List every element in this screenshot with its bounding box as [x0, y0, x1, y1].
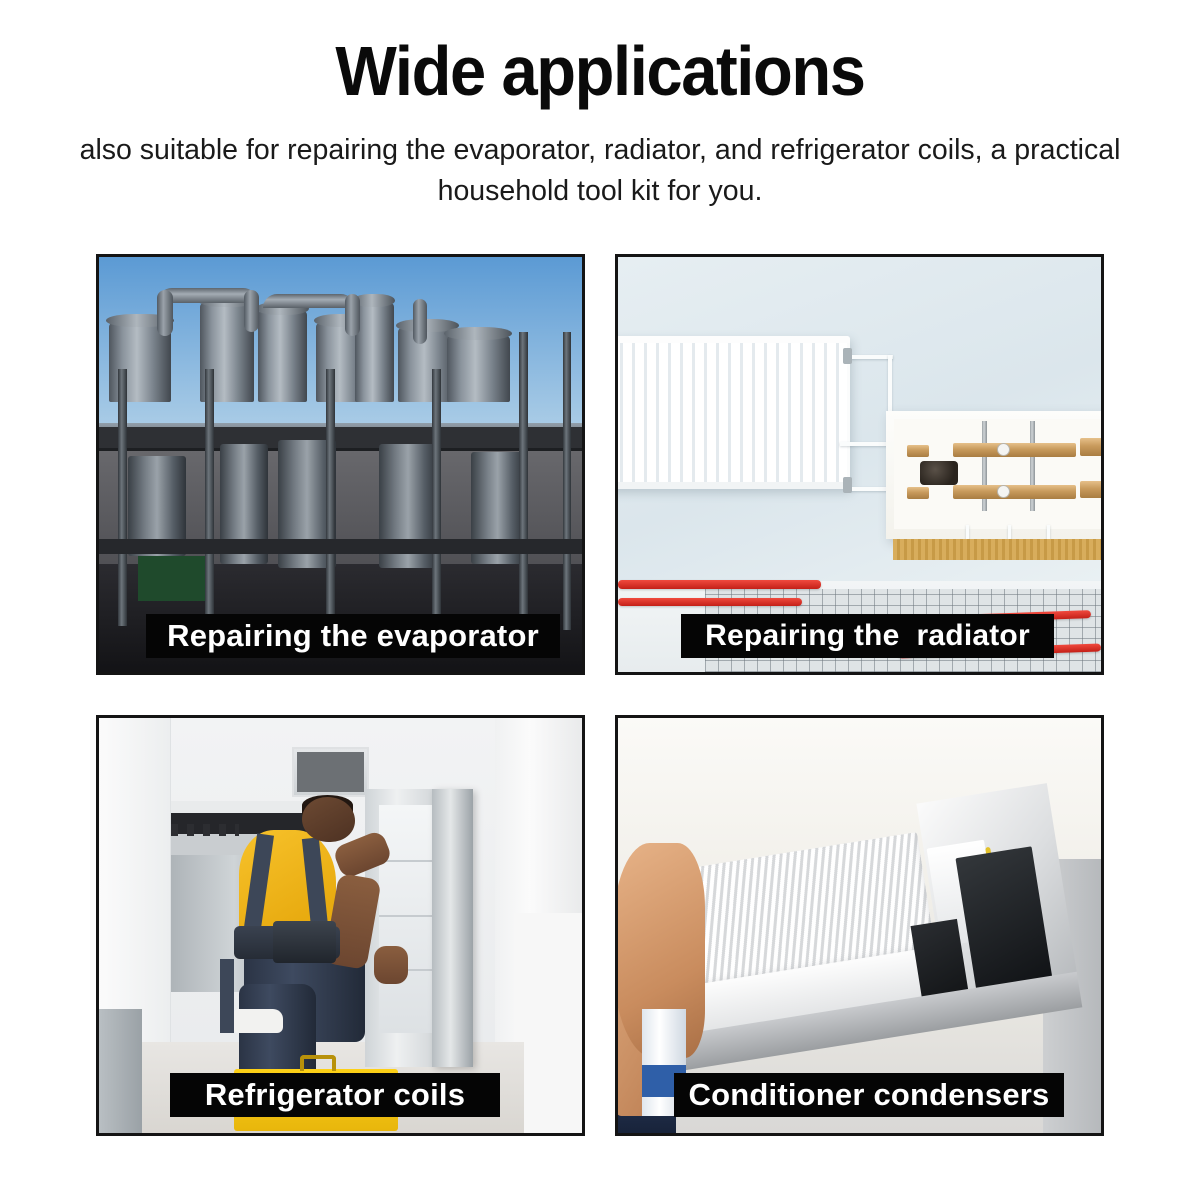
page-subtitle: also suitable for repairing the evaporat…: [55, 106, 1145, 212]
range-hood: [292, 747, 369, 797]
toolbox-handle: [300, 1055, 336, 1071]
panel-evaporator[interactable]: Repairing the evaporator: [96, 254, 585, 675]
heating-manifold-box: [886, 411, 1101, 540]
steel-column-1: [118, 369, 127, 626]
application-photo-grid: Repairing the evaporator: [96, 254, 1104, 1136]
caption-radiator: Repairing the radiator: [681, 614, 1054, 658]
left-foreground-panel: [99, 1009, 142, 1134]
steel-column-5: [519, 332, 528, 631]
caption-refrigerator-coils: Refrigerator coils: [170, 1073, 500, 1117]
downcomer-4: [413, 299, 427, 345]
wide-applications-page: Wide applications also suitable for repa…: [0, 0, 1200, 1200]
downcomer-1: [157, 290, 173, 336]
upper-deck: [99, 427, 582, 448]
brass-fitting-2: [907, 487, 929, 499]
caption-evaporator: Repairing the evaporator: [146, 614, 560, 658]
downcomer-2: [244, 290, 259, 332]
stove-knobs: [171, 824, 239, 836]
radiator-valve-bottom: [843, 477, 852, 493]
brass-manifold-bar-top: [953, 443, 1076, 457]
manifold-inner-face: [894, 419, 1101, 530]
refrigerator-interior: [379, 805, 437, 1033]
underfloor-pipe-1: [618, 580, 821, 589]
page-title: Wide applications: [42, 0, 1158, 106]
underfloor-pipe-2: [618, 598, 802, 606]
panel-refrigerator-coils[interactable]: Refrigerator coils: [96, 715, 585, 1136]
worker-head: [302, 797, 355, 843]
photo-ac-cleaning: [618, 718, 1101, 1133]
photo-evaporator-plant: [99, 257, 582, 672]
overhead-pipe-2: [263, 294, 355, 307]
worker-tool-pouch: [273, 921, 336, 963]
fridge-shelf-1: [379, 860, 437, 862]
worker-hand: [374, 946, 408, 983]
panel-conditioner-condensers[interactable]: Conditioner condensers: [615, 715, 1104, 1136]
worker-strap-hanging: [220, 959, 234, 1034]
downcomer-3: [345, 294, 359, 336]
pressure-gauge-bottom: [997, 485, 1010, 498]
fridge-shelf-2: [379, 915, 437, 917]
range-hood-glass: [297, 752, 364, 792]
left-cabinet: [99, 718, 171, 1042]
brass-fitting-1: [907, 445, 929, 457]
vessel-upper-5: [355, 303, 394, 403]
worker-shoe: [234, 1009, 282, 1034]
wood-batten: [893, 539, 1101, 560]
right-wall-lower: [514, 913, 582, 1133]
circulation-pump: [920, 461, 957, 485]
steel-column-4: [432, 369, 441, 626]
header: Wide applications also suitable for repa…: [0, 0, 1200, 212]
panel-radiator[interactable]: Repairing the radiator: [615, 254, 1104, 675]
steel-column-3: [326, 369, 335, 626]
brass-manifold-bar-bottom: [953, 485, 1076, 499]
refrigerator-open-door: [432, 789, 473, 1067]
vessel-upper-7: [447, 336, 510, 402]
photo-refrigerator-repair: [99, 718, 582, 1133]
caption-conditioner-condensers: Conditioner condensers: [674, 1073, 1064, 1117]
brass-end-cap-top: [1080, 438, 1101, 456]
photo-radiator-install: [618, 257, 1101, 672]
lower-deck: [99, 539, 582, 554]
radiator-valve-top: [843, 348, 852, 364]
steel-column-2: [205, 369, 214, 626]
steel-column-6: [563, 332, 572, 631]
vessel-upper-3: [258, 311, 306, 402]
radiator-top-cap: [618, 336, 850, 343]
pressure-gauge-top: [997, 443, 1010, 456]
panel-radiator-unit: [618, 336, 850, 490]
green-equipment: [138, 556, 206, 602]
radiator-bottom-cap: [618, 482, 850, 489]
brass-end-cap-bottom: [1080, 481, 1101, 499]
